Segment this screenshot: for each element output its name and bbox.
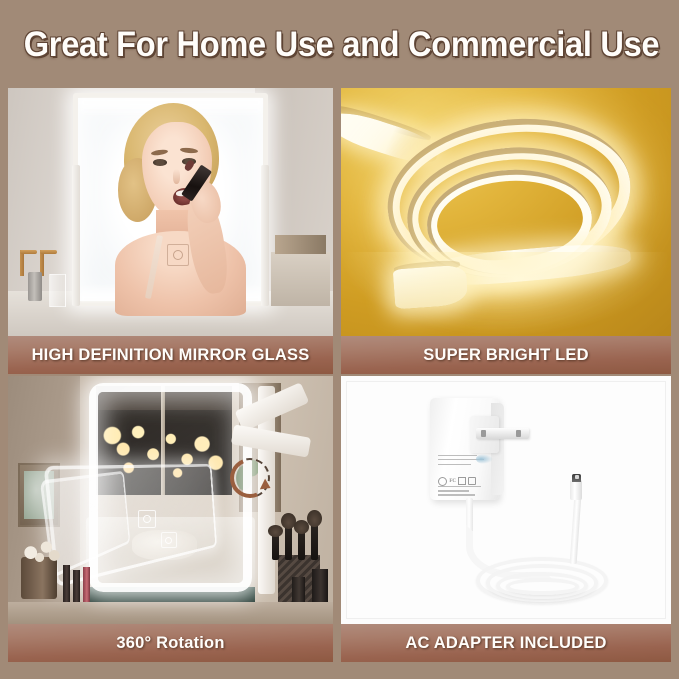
makeup-brush <box>298 530 305 560</box>
fc-mark-icon: FC <box>449 479 456 484</box>
metal-cup <box>28 272 42 302</box>
label-line <box>438 494 475 495</box>
rotation-arrow-icon <box>230 458 270 498</box>
cosmetic-tube <box>73 570 80 602</box>
caption-360-rotation: 360° Rotation <box>8 624 333 662</box>
rotation-solid-arc <box>224 452 276 504</box>
led-floor-glow <box>341 252 671 336</box>
makeup-brush <box>311 522 318 559</box>
brand-logo-icon <box>476 454 493 464</box>
cosmetic-tube <box>83 567 90 602</box>
side-shelf <box>271 252 330 307</box>
makeup-brush <box>285 525 292 560</box>
photo-360-rotation <box>8 376 333 624</box>
plug-prong-right <box>516 430 521 437</box>
certification-marks: FC <box>438 470 491 492</box>
faucet-arm-left <box>20 250 37 254</box>
caption-mirror-glass: HIGH DEFINITION MIRROR GLASS <box>8 336 333 374</box>
faucet-arm-right <box>40 250 57 254</box>
cosmetic-tubes <box>63 565 96 602</box>
touch-sensor-icon-secondary <box>161 532 177 548</box>
led-strip-scene <box>341 88 671 336</box>
woman-applying-lipstick <box>106 103 259 316</box>
cosmetic-bottle-small <box>292 577 305 602</box>
makeup-brushes <box>271 517 323 559</box>
photo-ac-adapter: FC <box>341 376 671 624</box>
infographic-page: Great For Home Use and Commercial Use <box>0 0 679 679</box>
mirror-post-right <box>261 165 269 306</box>
dc-barrel-tip <box>572 474 581 482</box>
bedroom-scene <box>8 376 333 624</box>
photo-mirror-glass <box>8 88 333 336</box>
plug-prong-left <box>481 430 486 437</box>
bedroom-floor <box>8 602 333 624</box>
eye-left <box>153 159 167 166</box>
brass-faucet-icon <box>11 212 76 311</box>
caption-ac-adapter: AC ADAPTER INCLUDED <box>341 624 671 662</box>
page-title: Great For Home Use and Commercial Use <box>24 25 655 65</box>
double-insulation-icon <box>468 477 476 485</box>
makeup-brush <box>272 533 279 559</box>
photo-led-strip <box>341 88 671 336</box>
dc-barrel-connector <box>570 480 582 500</box>
nose <box>173 169 181 184</box>
ac-adapter-scene: FC <box>341 376 671 624</box>
ul-mark-icon <box>438 477 447 486</box>
flowers <box>16 535 65 567</box>
ce-mark-icon <box>458 477 466 485</box>
label-line <box>438 464 471 465</box>
bathroom-scene <box>8 88 333 336</box>
label-line <box>438 455 477 456</box>
cosmetic-tube <box>63 565 70 602</box>
touch-sensor-icon <box>138 510 156 528</box>
caption-super-bright-led: SUPER BRIGHT LED <box>341 336 671 374</box>
touch-sensor-icon <box>167 244 189 266</box>
cosmetic-bottle <box>312 569 328 601</box>
glass-container <box>49 274 66 308</box>
